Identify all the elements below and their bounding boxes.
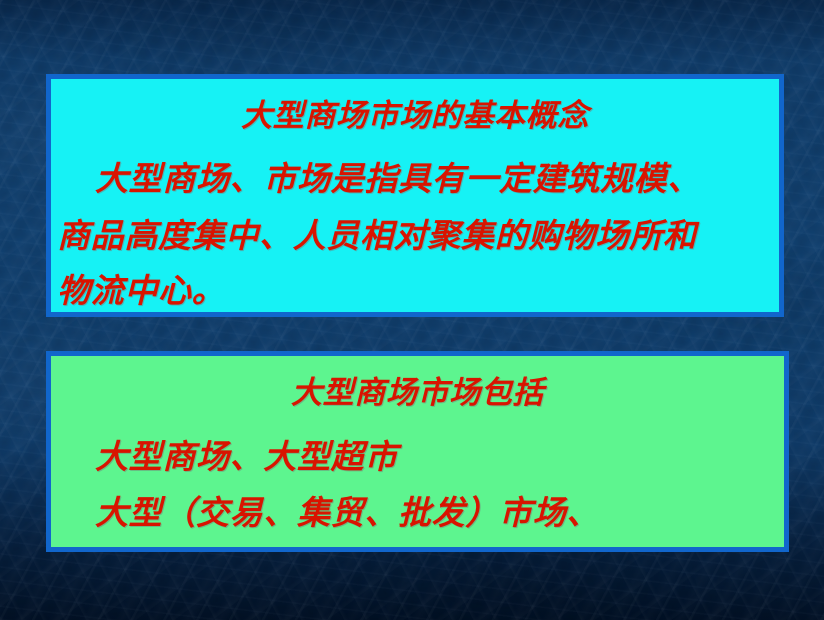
- concept-panel-content: 大型商场市场的基本概念 大型商场、市场是指具有一定建筑规模、 商品高度集中、人员…: [51, 79, 779, 312]
- concept-panel-line-1: 大型商场、市场是指具有一定建筑规模、: [95, 162, 701, 195]
- presentation-slide: 大型商场市场的基本概念 大型商场、市场是指具有一定建筑规模、 商品高度集中、人员…: [0, 0, 824, 620]
- concept-panel-heading: 大型商场市场的基本概念: [51, 101, 779, 132]
- concept-panel[interactable]: 大型商场市场的基本概念 大型商场、市场是指具有一定建筑规模、 商品高度集中、人员…: [46, 74, 784, 317]
- concept-panel-line-3: 物流中心。: [57, 274, 225, 307]
- includes-panel-heading: 大型商场市场包括: [51, 378, 784, 409]
- concept-panel-line-2: 商品高度集中、人员相对聚集的购物场所和: [57, 219, 697, 252]
- includes-panel[interactable]: 大型商场市场包括 大型商场、大型超市 大型（交易、集贸、批发）市场、: [46, 351, 789, 552]
- includes-panel-line-2: 大型（交易、集贸、批发）市场、: [95, 496, 600, 529]
- includes-panel-content: 大型商场市场包括 大型商场、大型超市 大型（交易、集贸、批发）市场、: [51, 356, 784, 547]
- includes-panel-line-1: 大型商场、大型超市: [95, 440, 398, 473]
